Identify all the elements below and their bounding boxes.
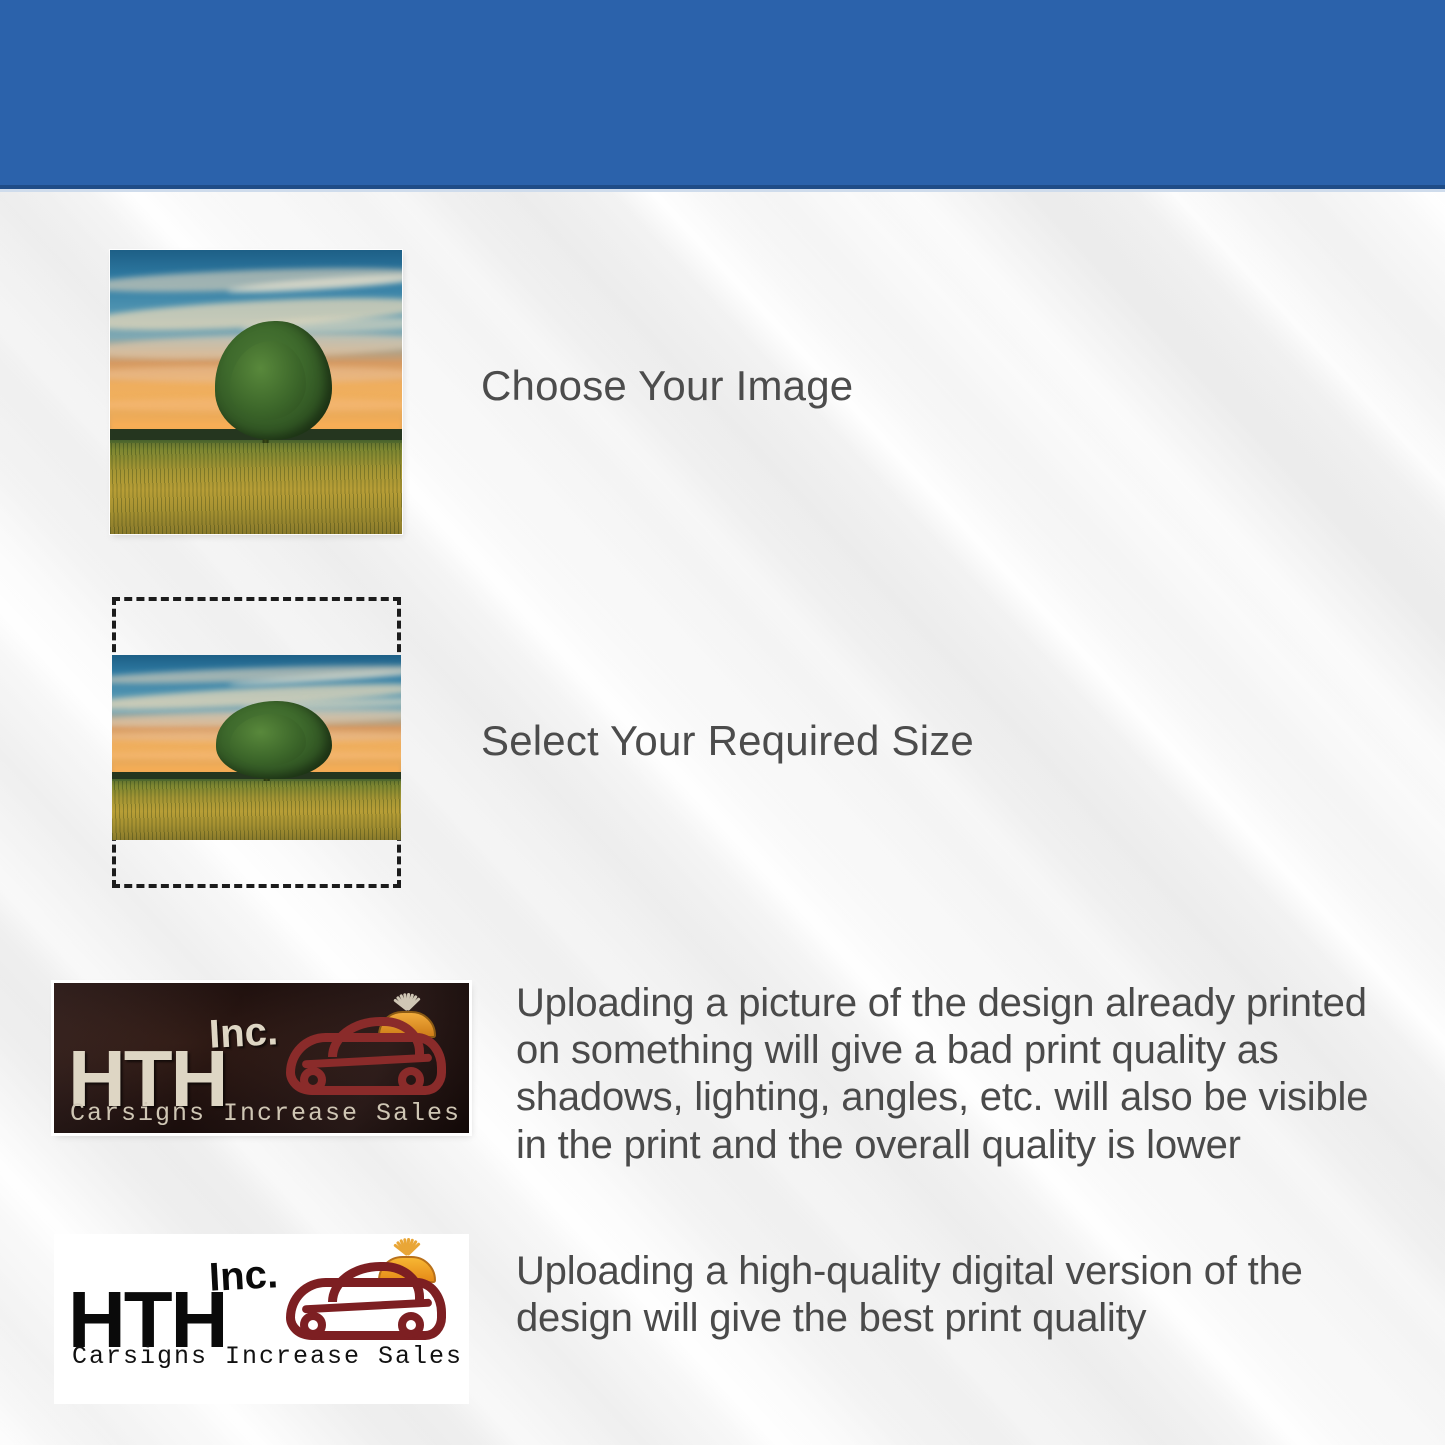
logo-suffix: Inc. xyxy=(208,1254,279,1298)
sunset-tree-photo-cropped xyxy=(112,655,401,840)
car-icon xyxy=(286,1256,461,1348)
car-wheel-front xyxy=(300,1067,326,1093)
sunset-scene-artwork xyxy=(110,250,402,534)
car-wheel-front xyxy=(300,1312,326,1338)
infographic-page: CUSTOMIZATION BEST TIPS Choose Your Imag… xyxy=(0,0,1445,1445)
car-icon xyxy=(286,1011,461,1103)
logo-tagline: Carsigns Increase Sales xyxy=(70,1101,461,1126)
hth-logo-on-banner: HTH Inc. Carsigns Increase Sales xyxy=(54,983,469,1133)
crop-size-frame[interactable] xyxy=(112,597,401,888)
tree-canopy-highlight xyxy=(230,714,305,766)
sunset-tree-photo-square xyxy=(110,250,402,534)
grass-texture xyxy=(110,443,402,534)
hth-logo-digital: HTH Inc. Carsigns Increase Sales xyxy=(54,1234,469,1404)
logo-suffix: Inc. xyxy=(208,1011,279,1055)
step-label-select-size: Select Your Required Size xyxy=(481,715,974,768)
printed-banner-photo: HTH Inc. Carsigns Increase Sales xyxy=(54,983,469,1133)
sunset-scene-artwork-cropped xyxy=(112,655,401,840)
header-underline-light xyxy=(0,189,1445,192)
step-label-bad-upload: Uploading a picture of the design alread… xyxy=(516,980,1406,1169)
step-label-choose-image: Choose Your Image xyxy=(481,360,853,413)
step-label-good-upload: Uploading a high-quality digital version… xyxy=(516,1248,1376,1342)
header-banner xyxy=(0,0,1445,189)
car-wheel-rear xyxy=(398,1312,424,1338)
grass-texture xyxy=(112,781,401,840)
digital-logo-artwork: HTH Inc. Carsigns Increase Sales xyxy=(54,1234,469,1404)
car-wheel-rear xyxy=(398,1067,424,1093)
